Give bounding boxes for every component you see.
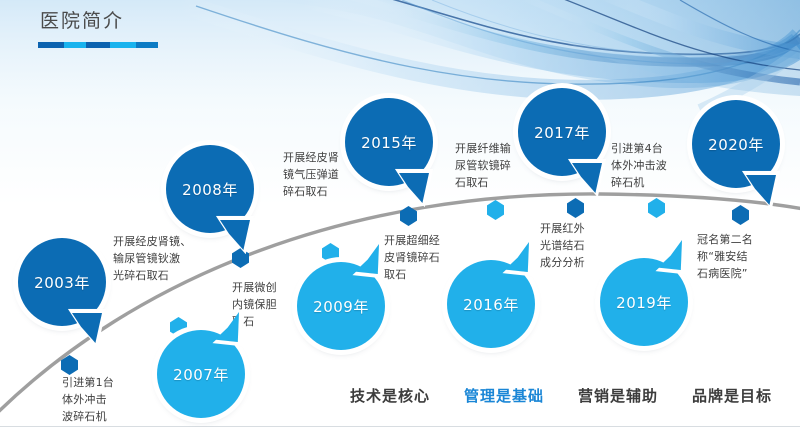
milestone-balloon-2020[interactable]: 2020年 <box>692 100 780 188</box>
balloon-year-label: 2003年 <box>18 238 106 326</box>
slogan-3: 营销是辅助 <box>578 385 658 406</box>
milestone-balloon-2007[interactable]: 2007年 <box>157 330 245 418</box>
slide-canvas: 医院简介 2003年2007年2008年2009年2015年2016年2017年… <box>0 0 800 427</box>
title-underline <box>38 42 158 48</box>
milestone-balloon-2015[interactable]: 2015年 <box>345 98 433 186</box>
milestone-caption-2020: 冠名第二名 称“雅安结 石病医院” <box>697 231 775 282</box>
milestone-balloon-2016[interactable]: 2016年 <box>447 260 535 348</box>
slogan-2: 管理是基础 <box>464 385 544 406</box>
balloon-year-label: 2015年 <box>345 98 433 186</box>
slogan-1: 技术是核心 <box>350 385 430 406</box>
title-underline-segment-1 <box>64 42 86 48</box>
balloon-year-label: 2007年 <box>157 330 245 418</box>
page-title: 医院简介 <box>40 6 124 33</box>
balloon-year-label: 2009年 <box>297 262 385 350</box>
balloon-year-label: 2020年 <box>692 100 780 188</box>
milestone-caption-2019: 引进第4台 体外冲击波 碎石机 <box>611 140 687 191</box>
title-underline-segment-4 <box>136 42 158 48</box>
title-underline-segment-3 <box>110 42 136 48</box>
milestone-balloon-2017[interactable]: 2017年 <box>518 88 606 176</box>
milestone-balloon-2019[interactable]: 2019年 <box>600 258 688 346</box>
milestone-balloon-2009[interactable]: 2009年 <box>297 262 385 350</box>
balloon-year-label: 2019年 <box>600 258 688 346</box>
balloon-year-label: 2008年 <box>166 145 254 233</box>
title-underline-segment-0 <box>38 42 64 48</box>
balloon-year-label: 2017年 <box>518 88 606 176</box>
slogan-4: 品牌是目标 <box>692 385 772 406</box>
milestone-caption-2007: 开展经皮肾镜、 输尿管镜钬激 光碎石取石 <box>113 233 209 284</box>
title-underline-segment-2 <box>86 42 110 48</box>
balloon-year-label: 2016年 <box>447 260 535 348</box>
milestone-caption-2003: 引进第1台 体外冲击 波碎石机 <box>62 374 148 425</box>
milestone-balloon-2008[interactable]: 2008年 <box>166 145 254 233</box>
milestone-balloon-2003[interactable]: 2003年 <box>18 238 106 326</box>
